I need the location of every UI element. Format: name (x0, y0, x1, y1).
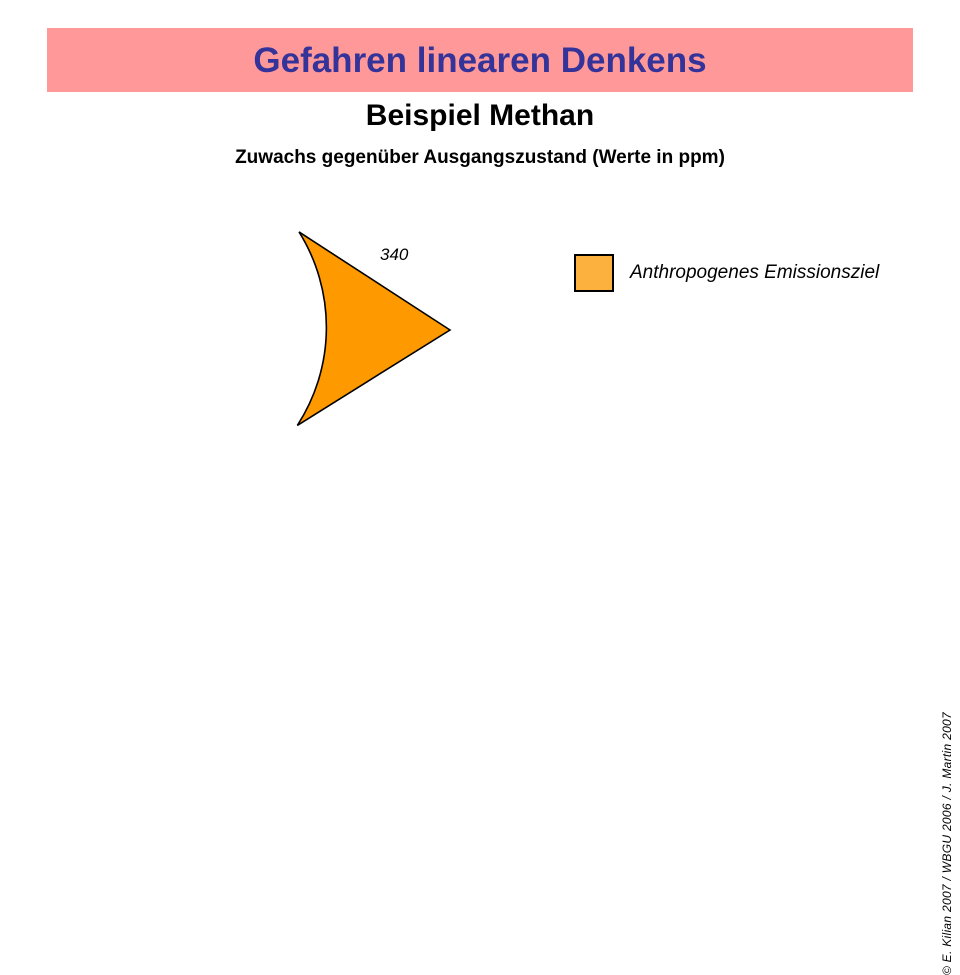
chart-subtitle: Zuwachs gegenüber Ausgangszustand (Werte… (0, 148, 960, 169)
chart-title: Beispiel Methan (0, 99, 960, 132)
pie-slice-anthropogenes-emissionsziel[interactable] (297, 232, 450, 425)
copyright-text: © E. Kilian 2007 / WBGU 2006 / J. Martin… (940, 712, 954, 975)
legend-color-swatch (574, 254, 614, 292)
title-banner: Gefahren linearen Denkens (47, 28, 913, 92)
page-title: Gefahren linearen Denkens (253, 43, 706, 78)
copyright-notice: © E. Kilian 2007 / WBGU 2006 / J. Martin… (940, 712, 954, 975)
legend-item-label: Anthropogenes Emissionsziel (630, 262, 879, 284)
slide-canvas: Gefahren linearen Denkens Beispiel Metha… (0, 0, 960, 720)
chart-legend: Anthropogenes Emissionsziel (574, 254, 879, 292)
pie-slice-data-label: 340 (380, 245, 408, 265)
